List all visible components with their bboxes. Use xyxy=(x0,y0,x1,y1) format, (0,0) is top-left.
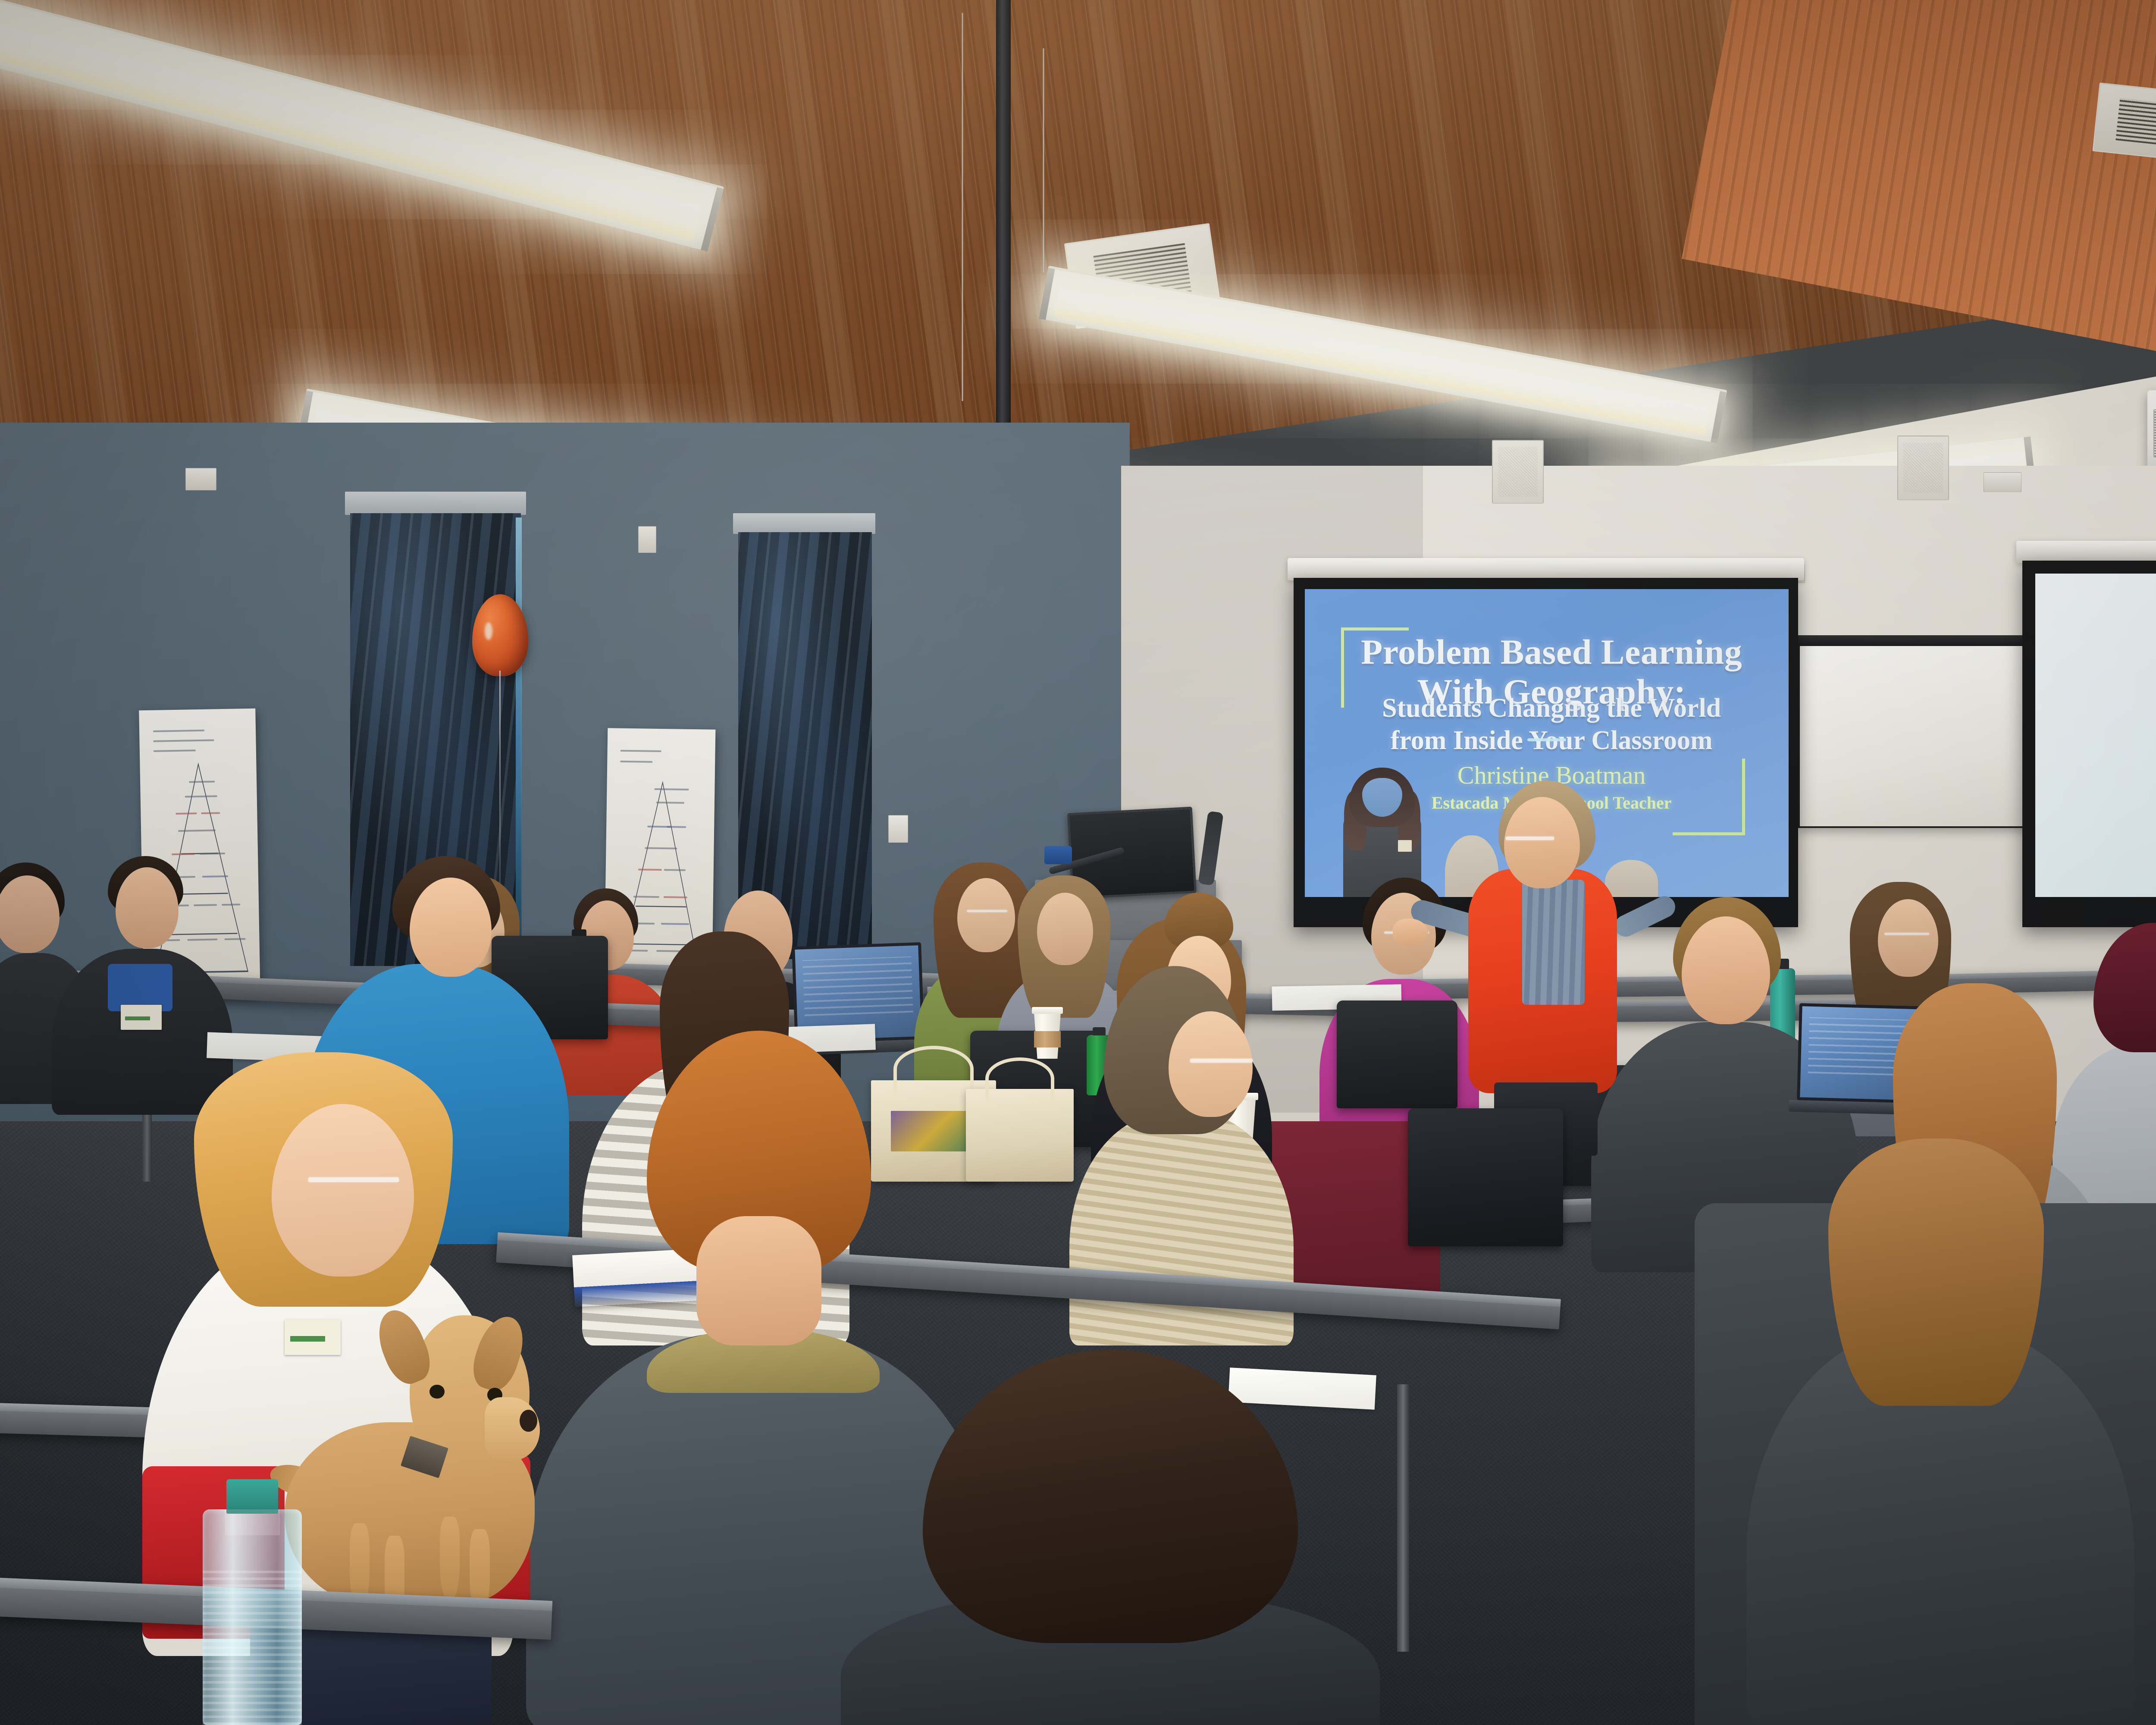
projector-right xyxy=(2147,390,2156,477)
dog xyxy=(285,1315,535,1630)
wall-plate-left xyxy=(185,468,216,490)
coffee-cup-1[interactable] xyxy=(1031,1011,1064,1059)
ceiling-air-diffuser-right xyxy=(2092,82,2156,163)
screen-roller-case-left xyxy=(1288,558,1804,580)
water-bottle-foreground[interactable] xyxy=(203,1509,302,1725)
presenter-left-hand xyxy=(1393,919,1428,945)
wall-plate-center xyxy=(638,526,656,553)
classroom-photo-scene: Problem Based Learning With Geography: S… xyxy=(0,0,2156,1725)
document-camera-head xyxy=(1044,846,1072,864)
presenter xyxy=(1457,781,1647,1156)
slide-divider-rule xyxy=(1527,738,1566,741)
screen-surface-right xyxy=(2035,574,2156,897)
screen-roller-case-right xyxy=(2016,541,2156,563)
wall-outlet-near-lectern xyxy=(888,815,908,843)
doorway-header-right xyxy=(733,513,875,534)
presenter-glasses xyxy=(1506,837,1554,840)
projector-mount-pole-left xyxy=(996,0,1011,431)
right-projection-screen xyxy=(2022,561,2156,927)
table-leg-6 xyxy=(1397,1384,1409,1652)
wall-speaker-left xyxy=(1492,440,1544,504)
wall-speaker-center xyxy=(1897,436,1949,500)
presenter-shirt xyxy=(1522,880,1585,1005)
wall-outlet-right-high xyxy=(1984,472,2021,492)
light-suspension-cable-2 xyxy=(962,13,963,401)
light-suspension-cable-3 xyxy=(1043,48,1044,273)
presenter-head xyxy=(1504,797,1580,888)
neck-1 xyxy=(696,1216,821,1345)
slide-subtitle: Students Changing the World from Inside … xyxy=(1358,692,1745,756)
chair-6[interactable] xyxy=(1408,1108,1563,1246)
chair-2[interactable] xyxy=(1337,1000,1457,1108)
slide-subtitle-line-1: Students Changing the World xyxy=(1382,693,1721,723)
attendee-front-right-hooded xyxy=(1746,1138,2134,1725)
doorway-header-left xyxy=(345,492,526,515)
attendee-front-center-large xyxy=(841,1350,1380,1725)
slide-title-line-1: Problem Based Learning xyxy=(1353,632,1750,672)
glasses-dog-owner xyxy=(308,1177,399,1182)
